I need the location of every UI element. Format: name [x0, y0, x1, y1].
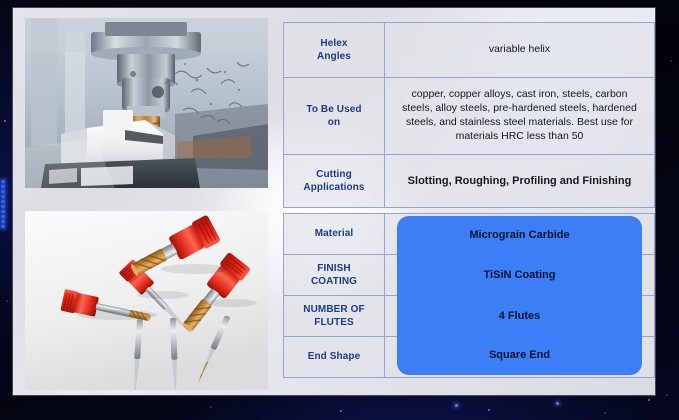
- row-value-end-shape: Square End: [385, 337, 655, 378]
- table-row: FINISH COATING TiSiN Coating: [284, 255, 655, 296]
- label-line-1: To Be Used: [306, 104, 361, 115]
- label-line-2: Angles: [317, 51, 351, 62]
- row-value-to-be-used-on: copper, copper alloys, cast iron, steels…: [385, 78, 655, 155]
- label-line-1: Cutting: [316, 169, 352, 180]
- label-line-1: Helex: [320, 38, 347, 49]
- row-value-number-of-flutes: 4 Flutes: [385, 296, 655, 337]
- starfield-speck: [4, 120, 6, 122]
- starfield-speck: [666, 394, 668, 396]
- starfield-speck: [648, 399, 650, 401]
- table-row: Material Micrograin Carbide: [284, 214, 655, 255]
- value-pill-end-shape: Square End: [397, 336, 642, 375]
- label-line-1: End Shape: [308, 351, 361, 362]
- label-line-1: NUMBER OF: [303, 304, 364, 315]
- starfield-speck: [670, 60, 672, 62]
- value-pill-number-of-flutes: 4 Flutes: [397, 295, 642, 337]
- cnc-milling-machine-photo: [25, 18, 268, 188]
- starfield-speck: [455, 404, 458, 407]
- starfield-speck: [556, 402, 559, 405]
- row-value-helex-angles: variable helix: [385, 23, 655, 78]
- row-label-finish-coating: FINISH COATING: [284, 255, 385, 296]
- table-row: Cutting Applications Slotting, Roughing,…: [284, 155, 655, 208]
- table-row: End Shape Square End: [284, 337, 655, 378]
- row-value-cutting-applications: Slotting, Roughing, Profiling and Finish…: [385, 155, 655, 208]
- row-label-material: Material: [284, 214, 385, 255]
- slide-frame: Helex Angles variable helix To Be Used o…: [0, 0, 679, 420]
- starfield-speck: [210, 406, 212, 408]
- label-line-2: on: [328, 117, 340, 128]
- table-row: Helex Angles variable helix: [284, 23, 655, 78]
- row-label-end-shape: End Shape: [284, 337, 385, 378]
- label-line-2: COATING: [311, 276, 357, 287]
- label-line-1: Material: [315, 228, 354, 239]
- specification-table-lower: Material Micrograin Carbide FINISH COATI…: [283, 213, 655, 378]
- table-row: To Be Used on copper, copper alloys, cas…: [284, 78, 655, 155]
- label-line-2: FLUTES: [314, 317, 354, 328]
- starfield-speck: [6, 300, 8, 302]
- label-line-2: Applications: [303, 182, 364, 193]
- value-pill-material: Micrograin Carbide: [397, 216, 642, 255]
- starfield-speck: [340, 410, 342, 412]
- row-label-cutting-applications: Cutting Applications: [284, 155, 385, 208]
- row-label-to-be-used-on: To Be Used on: [284, 78, 385, 155]
- row-value-finish-coating: TiSiN Coating: [385, 255, 655, 296]
- starfield-speck: [604, 412, 606, 414]
- table-row: NUMBER OF FLUTES 4 Flutes: [284, 296, 655, 337]
- label-line-1: FINISH: [317, 263, 350, 274]
- slide-canvas: Helex Angles variable helix To Be Used o…: [13, 8, 655, 395]
- row-label-number-of-flutes: NUMBER OF FLUTES: [284, 296, 385, 337]
- end-mill-cutter-set-photo: [25, 211, 268, 390]
- specification-table-upper: Helex Angles variable helix To Be Used o…: [283, 22, 655, 208]
- led-strip-decoration: [1, 178, 8, 256]
- row-label-helex-angles: Helex Angles: [284, 23, 385, 78]
- row-value-material: Micrograin Carbide: [385, 214, 655, 255]
- starfield-speck: [488, 409, 490, 411]
- value-pill-finish-coating: TiSiN Coating: [397, 254, 642, 296]
